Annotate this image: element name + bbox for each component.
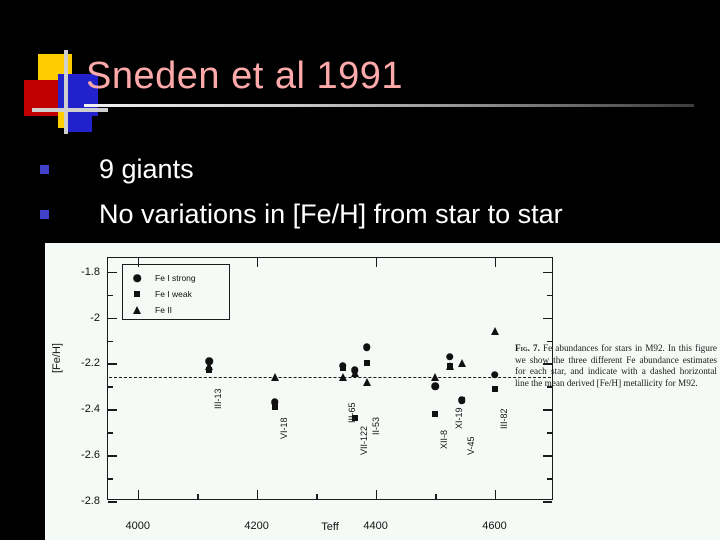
- y-axis-minor-tick: [108, 432, 113, 434]
- y-axis-tick: [108, 272, 117, 274]
- x-axis-tick-top: [257, 258, 259, 267]
- legend-label: Fe I weak: [155, 289, 192, 299]
- data-point-triangle: [458, 359, 466, 367]
- legend-label: Fe II: [155, 305, 172, 315]
- data-point-triangle: [351, 369, 359, 377]
- y-axis-minor-tick: [108, 341, 113, 343]
- y-axis-minor-tick: [108, 478, 113, 480]
- x-axis-minor-tick: [435, 494, 437, 499]
- y-axis-tick: [108, 363, 117, 365]
- data-point-square: [432, 411, 438, 417]
- y-axis-minor-tick: [108, 295, 113, 297]
- x-axis-tick-label: 4600: [482, 520, 506, 532]
- y-axis-tick-label: -1.8: [81, 266, 100, 278]
- data-point-triangle: [446, 362, 454, 370]
- data-point-triangle: [363, 378, 371, 386]
- list-item: No variations in [Fe/H] from star to sta…: [40, 197, 710, 231]
- data-point-square: [272, 404, 278, 410]
- y-axis-tick-right: [543, 501, 552, 503]
- bullet-text: 9 giants: [99, 152, 194, 186]
- figure-caption-prefix: Fig. 7.: [515, 343, 540, 353]
- y-axis-tick: [108, 501, 117, 503]
- data-point-circle: [363, 344, 371, 352]
- star-label: VII-122: [359, 426, 369, 455]
- data-point-triangle: [271, 373, 279, 381]
- y-axis-tick-right: [543, 318, 552, 320]
- y-axis-minor-tick-right: [547, 432, 552, 434]
- y-axis-tick-label: -2: [90, 312, 100, 324]
- y-axis-minor-tick-right: [547, 341, 552, 343]
- x-axis-minor-tick: [197, 494, 199, 499]
- x-axis-tick-label: 4000: [125, 520, 149, 532]
- data-point-square: [364, 360, 370, 366]
- bullet-text: No variations in [Fe/H] from star to sta…: [99, 197, 563, 231]
- x-axis-tick: [376, 490, 378, 499]
- scatter-plot: Fe I strongFe I weakFe II -1.8-2-2.2-2.4…: [107, 257, 553, 500]
- data-point-square: [340, 365, 346, 371]
- y-axis-tick-label: -2.2: [81, 357, 100, 369]
- star-label: VI-18: [279, 418, 289, 440]
- logo-horizontal-line: [32, 108, 108, 112]
- y-axis-tick-label: -2.8: [81, 495, 100, 507]
- y-axis-minor-tick: [108, 386, 113, 388]
- star-label: XII-8: [439, 430, 449, 449]
- x-axis-title: Teff: [321, 521, 339, 533]
- chart-legend: Fe I strongFe I weakFe II: [122, 264, 230, 320]
- y-axis-tick: [108, 318, 117, 320]
- y-axis-tick-right: [543, 455, 552, 457]
- slide: Sneden et al 1991 9 giants No variations…: [0, 0, 720, 540]
- legend-marker-circle: [133, 274, 141, 282]
- x-axis-tick-label: 4400: [363, 520, 387, 532]
- data-point-square: [492, 386, 498, 392]
- star-label: III-13: [213, 389, 223, 410]
- x-axis-tick: [138, 490, 140, 499]
- bullet-list: 9 giants No variations in [Fe/H] from st…: [40, 152, 710, 242]
- x-axis-tick: [257, 490, 259, 499]
- data-point-triangle: [339, 373, 347, 381]
- data-point-square: [459, 397, 465, 403]
- data-point-circle: [491, 371, 499, 379]
- figure-caption-body: Fe abundances for stars in M92. In this …: [515, 343, 717, 388]
- y-axis-minor-tick-right: [547, 478, 552, 480]
- figure-caption: Fig. 7. Fe abundances for stars in M92. …: [515, 343, 717, 389]
- data-point-triangle: [491, 327, 499, 335]
- y-axis-minor-tick-right: [547, 295, 552, 297]
- bullet-marker-icon: [40, 210, 49, 219]
- y-axis-tick: [108, 409, 117, 411]
- star-label: II-53: [371, 417, 381, 435]
- data-point-triangle: [205, 362, 213, 370]
- x-axis-tick-top: [495, 258, 497, 267]
- bullet-marker-icon: [40, 165, 49, 174]
- y-axis-title: [Fe/H]: [51, 343, 63, 373]
- y-axis-tick-label: -2.6: [81, 449, 100, 461]
- data-point-circle: [446, 353, 454, 361]
- slide-title: Sneden et al 1991: [86, 52, 403, 100]
- y-axis-tick-label: -2.4: [81, 403, 100, 415]
- y-axis-tick-right: [543, 272, 552, 274]
- x-axis-minor-tick: [316, 494, 318, 499]
- legend-marker-square: [134, 291, 140, 297]
- star-label: V-45: [466, 437, 476, 456]
- figure-panel: Fe I strongFe I weakFe II -1.8-2-2.2-2.4…: [45, 243, 720, 540]
- y-axis-tick: [108, 455, 117, 457]
- legend-marker-triangle: [133, 306, 141, 314]
- title-divider-rule: [84, 104, 694, 107]
- logo-blue-square-small: [64, 110, 92, 132]
- logo-vertical-line: [64, 50, 68, 134]
- x-axis-tick: [495, 490, 497, 499]
- list-item: 9 giants: [40, 152, 710, 186]
- x-axis-tick-top: [138, 258, 140, 267]
- mean-metallicity-dashed-line: [109, 377, 551, 378]
- x-axis-tick-top: [376, 258, 378, 267]
- star-label: XI-19: [454, 408, 464, 430]
- x-axis-tick-label: 4200: [244, 520, 268, 532]
- data-point-circle: [431, 383, 439, 391]
- y-axis-tick-right: [543, 409, 552, 411]
- data-point-triangle: [431, 373, 439, 381]
- data-point-square: [352, 415, 358, 421]
- star-label: III-82: [499, 409, 509, 430]
- legend-label: Fe I strong: [155, 273, 196, 283]
